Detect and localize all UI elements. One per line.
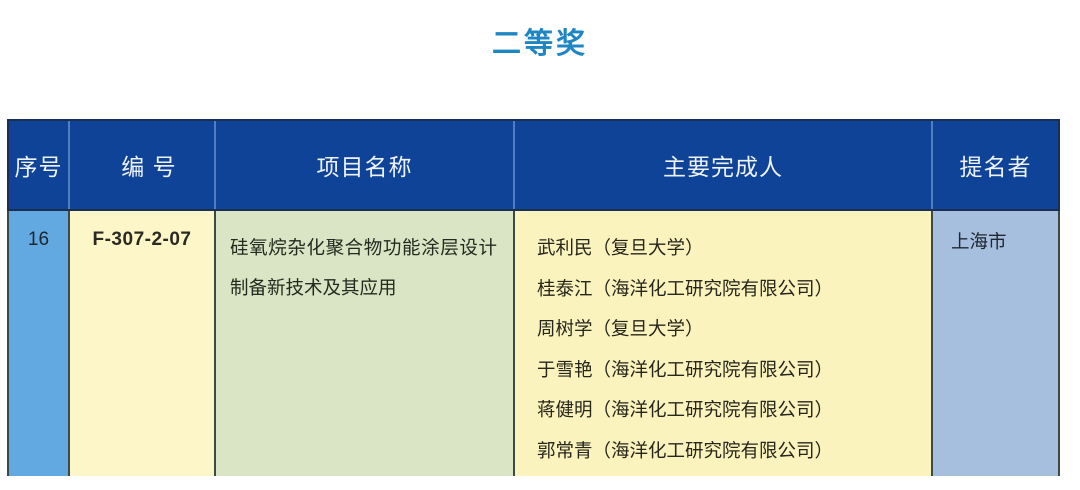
column-header-code: 编 号 — [69, 120, 215, 210]
cell-sequence-number: 16 — [8, 210, 69, 476]
nominator-value: 上海市 — [933, 211, 1058, 254]
column-header-project: 项目名称 — [215, 120, 514, 210]
contributor-list: 武利民（复旦大学） 桂泰江（海洋化工研究院有限公司） 周树学（复旦大学） 于雪艳… — [515, 211, 931, 471]
project-name-value: 硅氧烷杂化聚合物功能涂层设计制备新技术及其应用 — [216, 211, 513, 308]
list-item: 郭常青（海洋化工研究院有限公司） — [537, 431, 931, 472]
project-code-value: F-307-2-07 — [70, 211, 214, 251]
award-list-page: 二等奖 序号 编 号 项目名称 主要完成人 提名者 16 — [0, 0, 1080, 490]
list-item: 蒋健明（海洋化工研究院有限公司） — [537, 390, 931, 431]
sequence-number-value: 16 — [9, 211, 68, 251]
table-body: 16 F-307-2-07 硅氧烷杂化聚合物功能涂层设计制备新技术及其应用 武利… — [8, 210, 1059, 476]
cell-project-code: F-307-2-07 — [69, 210, 215, 476]
cell-project-name: 硅氧烷杂化聚合物功能涂层设计制备新技术及其应用 — [215, 210, 514, 476]
cell-nominator: 上海市 — [932, 210, 1059, 476]
column-header-seq: 序号 — [8, 120, 69, 210]
page-title: 二等奖 — [0, 20, 1080, 62]
list-item: 于雪艳（海洋化工研究院有限公司） — [537, 350, 931, 391]
list-item: 武利民（复旦大学） — [537, 228, 931, 269]
award-table: 序号 编 号 项目名称 主要完成人 提名者 16 F-307-2-07 硅氧烷杂… — [7, 119, 1060, 476]
column-header-nominator: 提名者 — [932, 120, 1059, 210]
column-header-people: 主要完成人 — [514, 120, 932, 210]
list-item: 周树学（复旦大学） — [537, 309, 931, 350]
table-header-row: 序号 编 号 项目名称 主要完成人 提名者 — [8, 120, 1059, 210]
cell-main-contributors: 武利民（复旦大学） 桂泰江（海洋化工研究院有限公司） 周树学（复旦大学） 于雪艳… — [514, 210, 932, 476]
table-header: 序号 编 号 项目名称 主要完成人 提名者 — [8, 120, 1059, 210]
list-item: 桂泰江（海洋化工研究院有限公司） — [537, 269, 931, 310]
table-row: 16 F-307-2-07 硅氧烷杂化聚合物功能涂层设计制备新技术及其应用 武利… — [8, 210, 1059, 476]
